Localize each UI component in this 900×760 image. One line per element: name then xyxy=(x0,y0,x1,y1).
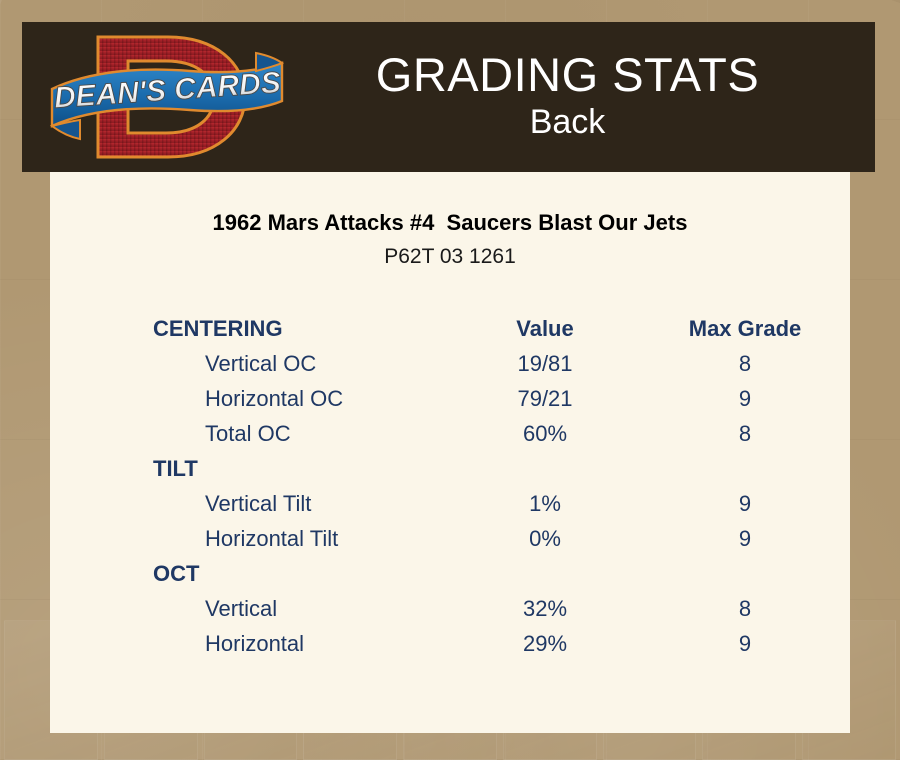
column-header-centering-label: CENTERING xyxy=(50,316,283,341)
column-header-value: Value xyxy=(450,311,640,346)
section-header-spacer xyxy=(450,556,640,591)
table-row: Horizontal OC 79/21 9 xyxy=(50,381,850,416)
row-value: 29% xyxy=(450,626,640,661)
grading-stats-page: DEAN'S CARDS GRADING STATS Back 1962 Mar… xyxy=(0,0,900,760)
page-subtitle: Back xyxy=(300,101,835,144)
row-value: 60% xyxy=(450,416,640,451)
content-panel: 1962 Mars Attacks #4 Saucers Blast Our J… xyxy=(50,172,850,733)
table-row: Vertical OC 19/81 8 xyxy=(50,346,850,381)
row-value: 1% xyxy=(450,486,640,521)
section-header-row: TILT xyxy=(50,451,850,486)
section-header-row: OCT xyxy=(50,556,850,591)
row-label: Horizontal OC xyxy=(50,386,343,411)
section-header-cell: TILT xyxy=(50,451,450,486)
row-label: Total OC xyxy=(50,421,291,446)
row-label: Horizontal Tilt xyxy=(50,526,338,551)
row-label-cell: Vertical Tilt xyxy=(50,486,450,521)
row-grade: 8 xyxy=(640,591,850,626)
table-header-row: CENTERING Value Max Grade xyxy=(50,311,850,346)
row-label-cell: Vertical xyxy=(50,591,450,626)
row-label: Horizontal xyxy=(50,631,304,656)
row-label: Vertical Tilt xyxy=(50,491,311,516)
row-label-cell: Total OC xyxy=(50,416,450,451)
section-header-cell: OCT xyxy=(50,556,450,591)
row-grade: 9 xyxy=(640,381,850,416)
row-label-cell: Vertical OC xyxy=(50,346,450,381)
column-header-max-grade: Max Grade xyxy=(640,311,850,346)
header-bar: DEAN'S CARDS GRADING STATS Back xyxy=(22,22,875,172)
section-header-spacer xyxy=(640,556,850,591)
card-title: 1962 Mars Attacks #4 Saucers Blast Our J… xyxy=(50,210,850,236)
section-header-label: TILT xyxy=(50,456,198,481)
row-grade: 8 xyxy=(640,346,850,381)
row-label: Vertical OC xyxy=(50,351,316,376)
row-value: 79/21 xyxy=(450,381,640,416)
row-grade: 9 xyxy=(640,521,850,556)
deans-cards-logo-icon: DEAN'S CARDS xyxy=(50,27,300,167)
card-code: P62T 03 1261 xyxy=(50,245,850,269)
grading-stats-table: CENTERING Value Max Grade Vertical OC 19… xyxy=(50,311,850,661)
table-row: Vertical Tilt 1% 9 xyxy=(50,486,850,521)
table-row: Vertical 32% 8 xyxy=(50,591,850,626)
row-grade: 9 xyxy=(640,626,850,661)
row-label-cell: Horizontal xyxy=(50,626,450,661)
table-row: Horizontal 29% 9 xyxy=(50,626,850,661)
header-titles: GRADING STATS Back xyxy=(300,50,835,144)
table-row: Total OC 60% 8 xyxy=(50,416,850,451)
table-body: Vertical OC 19/81 8 Horizontal OC 79/21 … xyxy=(50,346,850,661)
column-header-centering: CENTERING xyxy=(50,311,450,346)
row-value: 32% xyxy=(450,591,640,626)
row-grade: 8 xyxy=(640,416,850,451)
row-value: 19/81 xyxy=(450,346,640,381)
row-grade: 9 xyxy=(640,486,850,521)
row-label: Vertical xyxy=(50,596,277,621)
section-header-label: OCT xyxy=(50,561,199,586)
deans-cards-logo[interactable]: DEAN'S CARDS xyxy=(50,27,300,167)
page-title: GRADING STATS xyxy=(300,50,835,99)
row-label-cell: Horizontal OC xyxy=(50,381,450,416)
row-label-cell: Horizontal Tilt xyxy=(50,521,450,556)
row-value: 0% xyxy=(450,521,640,556)
table-header: CENTERING Value Max Grade xyxy=(50,311,850,346)
table-row: Horizontal Tilt 0% 9 xyxy=(50,521,850,556)
section-header-spacer xyxy=(450,451,640,486)
section-header-spacer xyxy=(640,451,850,486)
